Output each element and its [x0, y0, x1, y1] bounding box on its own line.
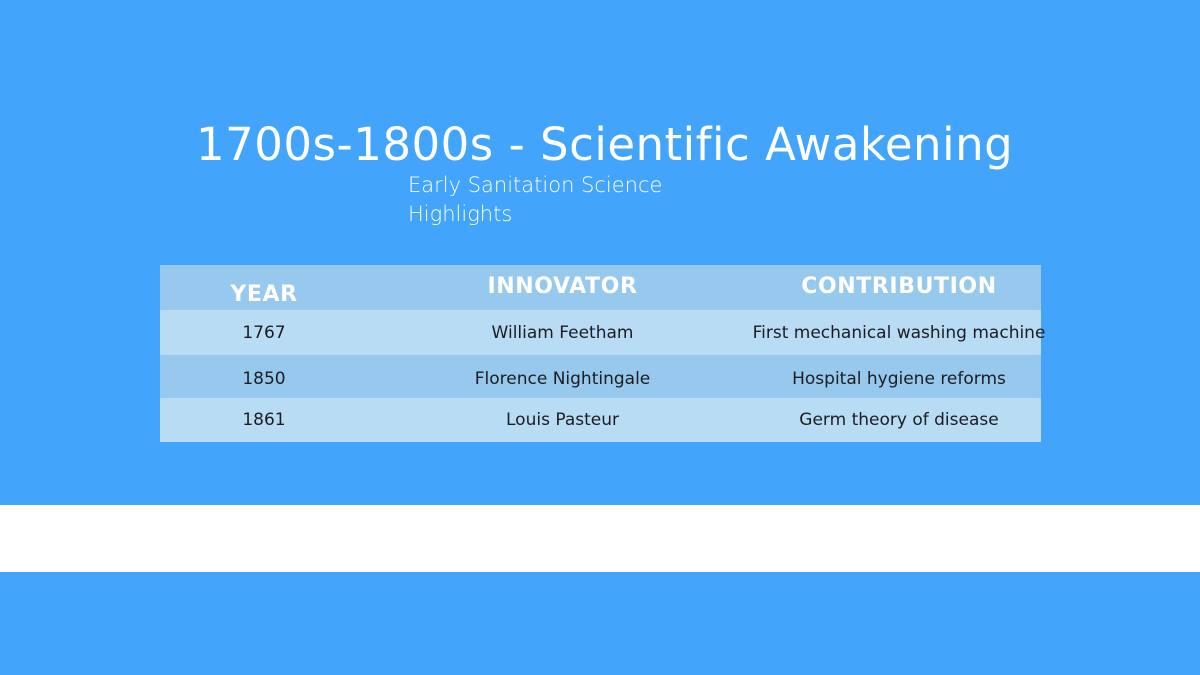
- slide-title: 1700s-1800s - Scientific Awakening: [196, 116, 1006, 174]
- slide-subtitle: Early Sanitation Science Highlights: [408, 171, 928, 229]
- cell-year: 1850: [160, 355, 368, 398]
- slide-subtitle-line-2: Highlights: [408, 200, 928, 229]
- table-header-contribution: CONTRIBUTION: [757, 265, 1041, 310]
- cell-innovator: Florence Nightingale: [368, 355, 757, 398]
- cell-innovator: William Feetham: [368, 310, 757, 355]
- cell-contribution: Hospital hygiene reforms: [757, 355, 1041, 398]
- background-band-white: [0, 505, 1200, 572]
- slide-subtitle-line-1: Early Sanitation Science: [408, 171, 928, 200]
- cell-year: 1861: [160, 398, 368, 442]
- cell-year: 1767: [160, 310, 368, 355]
- slide-canvas: 1700s-1800s - Scientific Awakening Early…: [0, 0, 1200, 675]
- table-header-innovator: INNOVATOR: [368, 265, 757, 310]
- background-band-bottom: [0, 572, 1200, 675]
- cell-contribution: First mechanical washing machine: [757, 310, 1041, 355]
- table-header-row: YEAR INNOVATOR CONTRIBUTION: [160, 265, 1041, 310]
- table-row: 1861 Louis Pasteur Germ theory of diseas…: [160, 398, 1041, 442]
- cell-innovator: Louis Pasteur: [368, 398, 757, 442]
- table-header-year: YEAR: [160, 265, 368, 310]
- cell-contribution: Germ theory of disease: [757, 398, 1041, 442]
- highlights-table: YEAR INNOVATOR CONTRIBUTION 1767 William…: [160, 265, 1041, 442]
- table-row: 1767 William Feetham First mechanical wa…: [160, 310, 1041, 355]
- table-row: 1850 Florence Nightingale Hospital hygie…: [160, 355, 1041, 398]
